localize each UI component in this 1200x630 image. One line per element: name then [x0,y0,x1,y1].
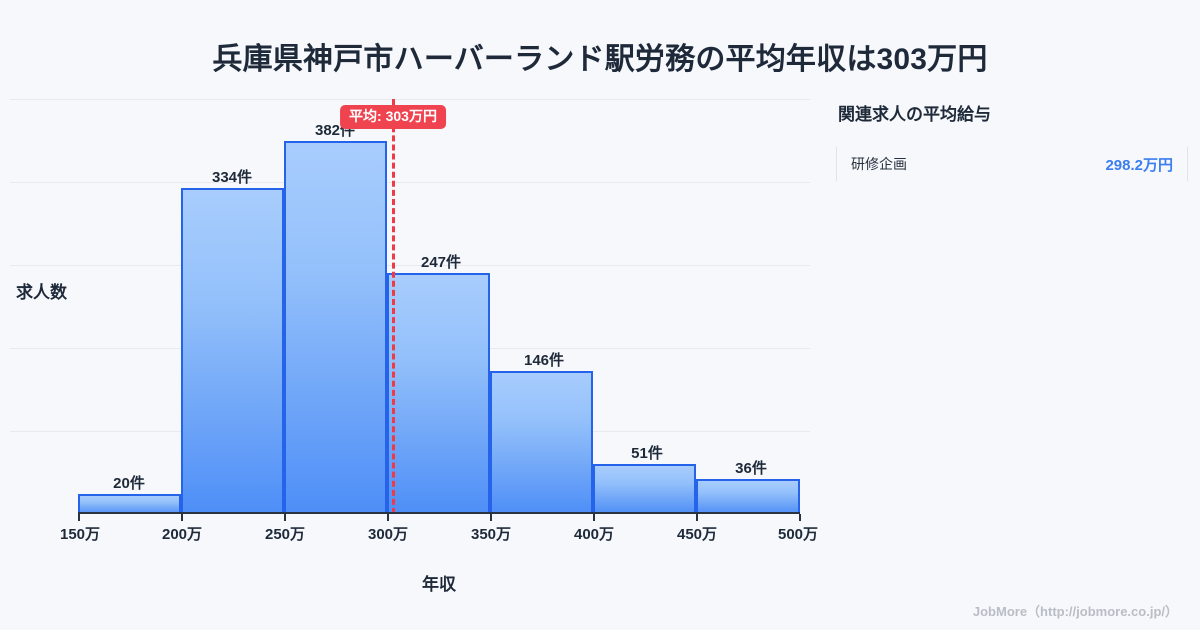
x-axis-tick [490,514,492,521]
bar[interactable] [284,141,387,514]
x-axis-tick [593,514,595,521]
salary-row-name: 研修企画 [851,154,907,174]
x-axis-tick [284,514,286,521]
plot-area: 20件 334件 382件 247件 146件 51件 36件 平均: 303万… [78,99,800,514]
x-axis-tick-label: 450万 [677,523,717,544]
histogram-chart: 求人数 20件 334件 382件 247件 146件 51件 36件 平均: … [0,0,830,630]
x-axis-tick-label: 500万 [778,523,818,544]
bar-value-label: 146件 [524,349,564,370]
y-axis-title: 求人数 [16,278,67,303]
bar[interactable] [387,273,490,514]
average-badge: 平均: 303万円 [340,105,446,129]
gridline [10,265,810,266]
bar[interactable] [181,188,284,514]
x-axis-tick-label: 250万 [265,523,305,544]
watermark: JobMore（http://jobmore.co.jp/） [973,601,1178,620]
bar-value-label: 51件 [631,442,663,463]
x-axis-title: 年収 [0,570,878,595]
gridline [10,99,810,100]
list-item[interactable]: 研修企画 298.2万円 [836,147,1188,181]
bar-value-label: 36件 [735,457,767,478]
bar[interactable] [78,494,181,514]
salary-row-value: 298.2万円 [1105,154,1173,175]
bar-value-label: 334件 [212,166,252,187]
related-salary-panel: 関連求人の平均給与 研修企画 298.2万円 [836,100,1188,181]
x-axis-tick-label: 400万 [574,523,614,544]
x-axis-tick [387,514,389,521]
x-axis-tick [78,514,80,521]
gridline [10,182,810,183]
x-axis-tick-label: 350万 [471,523,511,544]
x-axis-tick-label: 150万 [60,523,100,544]
x-axis-tick [799,514,801,521]
x-axis-tick [181,514,183,521]
bar[interactable] [490,371,593,514]
bar-value-label: 247件 [421,251,461,272]
average-line [392,99,395,514]
x-axis-tick-label: 300万 [368,523,408,544]
x-axis-tick [696,514,698,521]
bar-value-label: 20件 [113,472,145,493]
bar[interactable] [696,479,800,514]
x-axis-tick-label: 200万 [162,523,202,544]
related-salary-title: 関連求人の平均給与 [838,100,1188,125]
x-axis-line [78,512,800,514]
bar[interactable] [593,464,696,514]
